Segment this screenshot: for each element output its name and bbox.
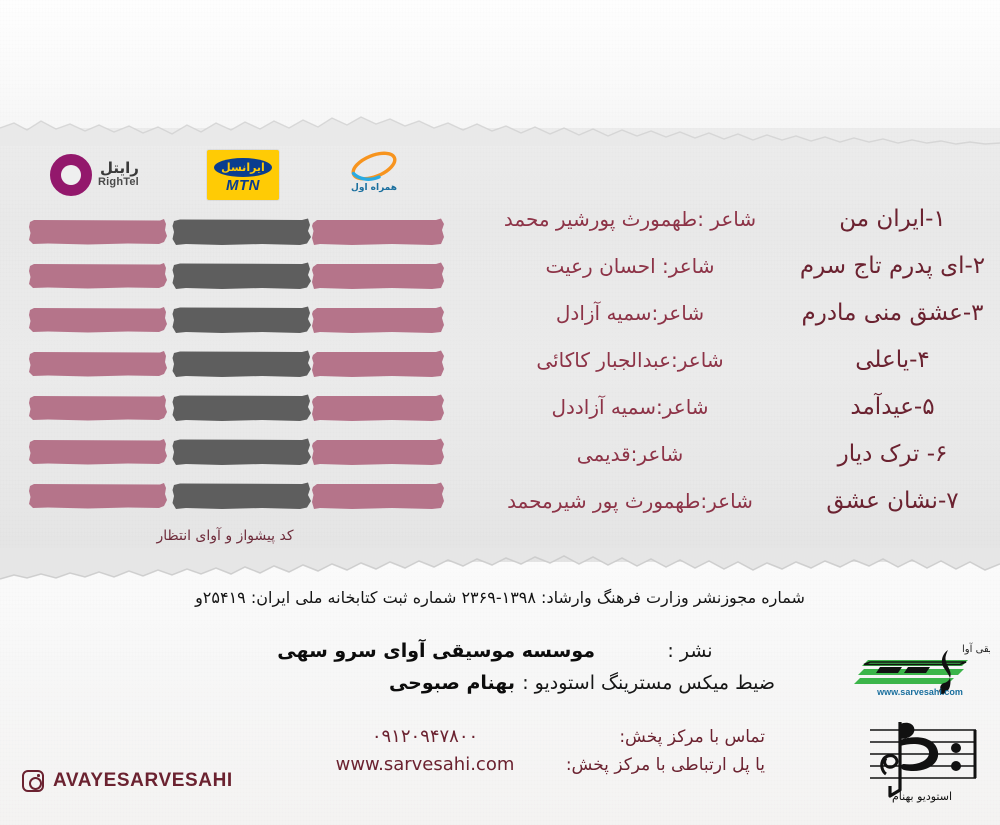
paper-band-top: [0, 0, 1000, 132]
ringback-bar-irancell[interactable]: [172, 350, 312, 378]
mastering-row: ضیط میکس مسترینگ استودیو : بهنام صبوحی: [230, 672, 775, 704]
rightel-ring-icon: [50, 154, 92, 196]
ringback-bar-irancell[interactable]: [172, 306, 312, 334]
ringback-bar-rightel[interactable]: [28, 350, 168, 378]
track-row: ۲-ای پدرم تاج سرم شاعر: احسان رعیت: [440, 253, 1000, 300]
track-row: ۴-یاعلی شاعر:عبدالجبار کاکائی: [440, 347, 1000, 394]
ringback-bar-hamrah[interactable]: [312, 438, 445, 466]
mtn-logo-box: ایرانسل MTN: [207, 150, 279, 200]
ringback-row: [0, 392, 450, 436]
ringback-row: [0, 304, 450, 348]
track-poet: شاعر:سمیه آزادل: [475, 301, 785, 325]
irancell-oval: ایرانسل: [214, 158, 272, 177]
ringback-bar-rightel[interactable]: [28, 394, 168, 422]
rightel-label-fa: رایتل: [98, 161, 139, 177]
track-title: ۵-عیدآمد: [785, 394, 1000, 420]
track-row: ۳-عشق منی مادرم شاعر:سمیه آزادل: [440, 300, 1000, 347]
instagram-handle: AVAYESARVESAHI: [53, 770, 233, 792]
ringback-bar-rightel[interactable]: [28, 438, 168, 466]
track-title: ۷-نشان عشق: [785, 488, 1000, 514]
ringback-row: [0, 260, 450, 304]
track-poet: شاعر:سمیه آزاددل: [475, 395, 785, 419]
ringback-bar-irancell[interactable]: [172, 438, 312, 466]
svg-text:مؤسسه موسیقی آوا: مؤسسه موسیقی آوا: [962, 642, 990, 655]
svg-text:www.sarvesahi.com: www.sarvesahi.com: [876, 687, 963, 697]
ringback-bar-hamrah[interactable]: [312, 218, 445, 246]
ringback-bar-hamrah[interactable]: [312, 262, 445, 290]
ringback-bar-rightel[interactable]: [28, 218, 168, 246]
irancell-mtn-logo: ایرانسل MTN: [207, 150, 279, 200]
track-row: ۵-عیدآمد شاعر:سمیه آزاددل: [440, 394, 1000, 441]
ringback-bar-irancell[interactable]: [172, 262, 312, 290]
hamrah-aval-logo: همراه اول: [345, 150, 403, 193]
track-row: ۶- ترک دیار شاعر:قدیمی: [440, 441, 1000, 488]
track-poet: شاعر:قدیمی: [475, 442, 785, 466]
irancell-label-fa: ایرانسل: [221, 162, 265, 173]
website-label: یا پل ارتباطی با مرکز پخش:: [550, 755, 765, 775]
track-title: ۲-ای پدرم تاج سرم: [785, 253, 1000, 279]
mastering-value: بهنام صبوحی: [389, 672, 515, 694]
ringback-bar-hamrah[interactable]: [312, 394, 445, 422]
ringback-bar-irancell[interactable]: [172, 482, 312, 510]
ringback-code-grid: [0, 216, 450, 524]
rightel-wordmark: رایتل RighTel: [98, 161, 139, 188]
license-registration-line: شماره مجوزنشر وزارت فرهنگ وارشاد: ۱۳۹۸-۲…: [0, 588, 1000, 607]
ringback-bar-hamrah[interactable]: [312, 350, 445, 378]
track-poet: شاعر:عبدالجبار کاکائی: [475, 348, 785, 372]
ringback-row: [0, 436, 450, 480]
track-title: ۴-یاعلی: [785, 347, 1000, 373]
instagram-icon: [22, 770, 44, 792]
track-list: ۱-ایران من شاعر :طهمورث پورشیر محمد ۲-ای…: [440, 206, 1000, 535]
track-title: ۶- ترک دیار: [785, 441, 1000, 467]
track-poet: شاعر :طهمورث پورشیر محمد: [475, 207, 785, 231]
publisher-label: نشر :: [605, 640, 775, 662]
ringback-bar-hamrah[interactable]: [312, 306, 445, 334]
ringback-caption: کد پیشواز و آوای انتظار: [0, 528, 450, 544]
track-title: ۱-ایران من: [785, 206, 1000, 232]
contact-info: تماس با مرکز پخش: ۰۹۱۲۰۹۴۷۸۰۰ یا پل ارتب…: [245, 726, 765, 782]
ava-music-logo: مؤسسه موسیقی آوا www.sarvesahi.com: [850, 640, 990, 702]
track-poet: شاعر: احسان رعیت: [475, 254, 785, 278]
website-row: یا پل ارتباطی با مرکز پخش: www.sarvesahi…: [245, 754, 765, 782]
ringback-row: [0, 216, 450, 260]
ringback-bar-hamrah[interactable]: [312, 482, 445, 510]
publisher-credits: نشر : موسسه موسیقی آوای سرو سهی ضیط میکس…: [230, 640, 775, 704]
phone-row: تماس با مرکز پخش: ۰۹۱۲۰۹۴۷۸۰۰: [245, 726, 765, 754]
hamrah-aval-label-fa: همراه اول: [351, 183, 397, 193]
track-row: ۱-ایران من شاعر :طهمورث پورشیر محمد: [440, 206, 1000, 253]
ringback-row: [0, 480, 450, 524]
album-back-cover: رایتل RighTel ایرانسل MTN همراه اول: [0, 0, 1000, 825]
ringback-row: [0, 348, 450, 392]
track-poet: شاعر:طهمورث پور شیرمحمد: [475, 489, 785, 513]
svg-text:استودیو بهنام: استودیو بهنام: [892, 790, 952, 803]
ringback-bar-rightel[interactable]: [28, 262, 168, 290]
ringback-bar-rightel[interactable]: [28, 306, 168, 334]
track-row: ۷-نشان عشق شاعر:طهمورث پور شیرمحمد: [440, 488, 1000, 535]
mtn-label-en: MTN: [226, 178, 260, 193]
hamrah-aval-swoosh-icon: [345, 150, 403, 184]
rightel-label-en: RighTel: [98, 177, 139, 189]
rightel-logo: رایتل RighTel: [50, 154, 139, 196]
track-title: ۳-عشق منی مادرم: [785, 300, 1000, 326]
ringback-bar-irancell[interactable]: [172, 394, 312, 422]
publisher-row: نشر : موسسه موسیقی آوای سرو سهی: [230, 640, 775, 672]
behnam-studio-logo: استودیو بهنام: [852, 712, 992, 812]
ringback-bar-irancell[interactable]: [172, 218, 312, 246]
carrier-logos: رایتل RighTel ایرانسل MTN همراه اول: [0, 148, 450, 208]
publisher-value: موسسه موسیقی آوای سرو سهی: [277, 640, 595, 662]
mastering-label: ضیط میکس مسترینگ استودیو :: [525, 672, 775, 694]
ringback-bar-rightel[interactable]: [28, 482, 168, 510]
website-url[interactable]: www.sarvesahi.com: [300, 754, 550, 775]
phone-label: تماس با مرکز پخش:: [550, 727, 765, 747]
instagram-link[interactable]: AVAYESARVESAHI: [22, 770, 233, 792]
phone-number[interactable]: ۰۹۱۲۰۹۴۷۸۰۰: [300, 726, 550, 747]
